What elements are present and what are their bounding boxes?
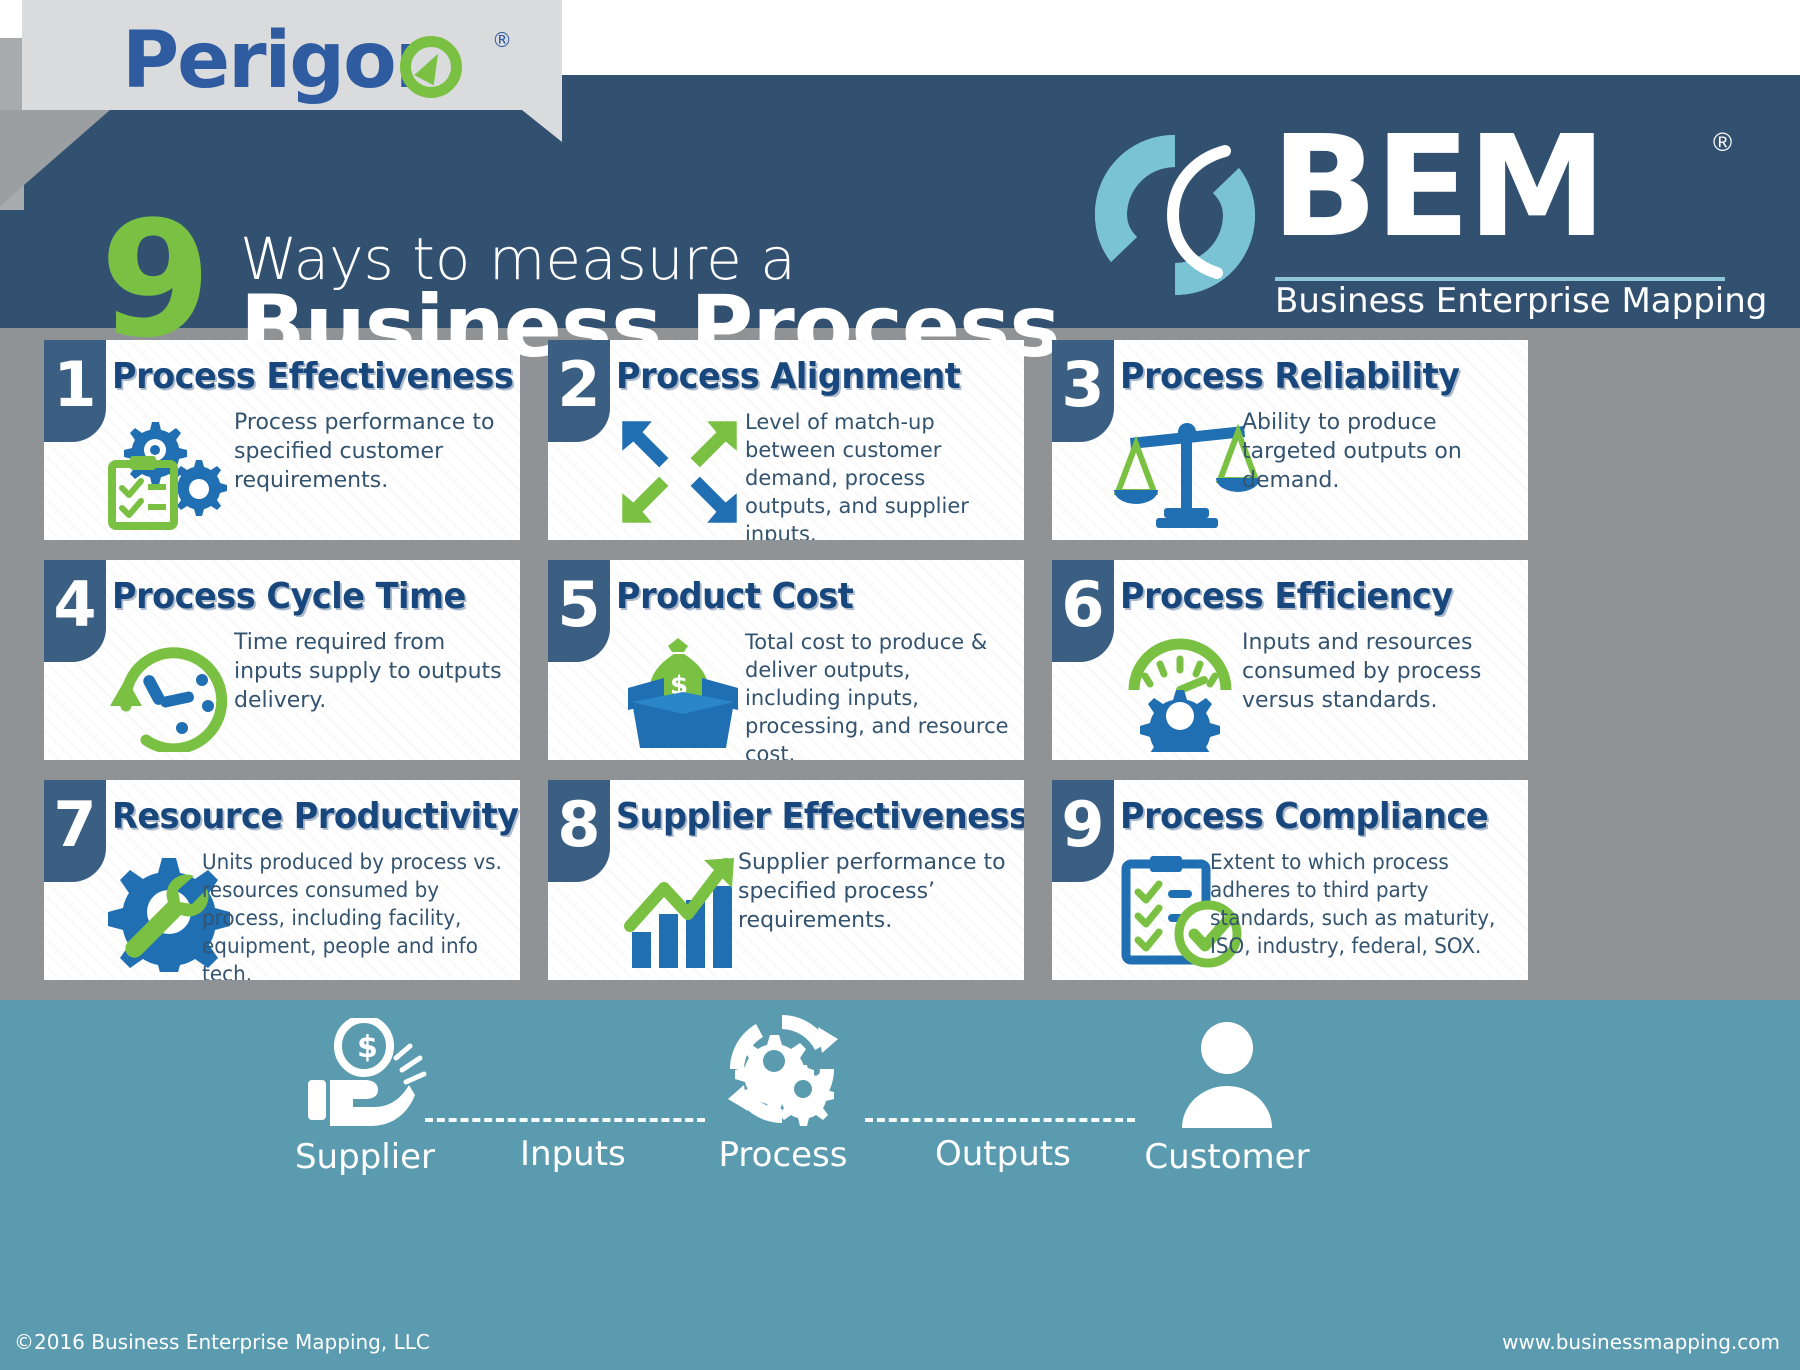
card-process-reliability[interactable]: 3 Process Reliability Ability to produce… xyxy=(1052,340,1528,540)
card-title: Supplier Effectiveness xyxy=(616,796,990,837)
card-process-effectiveness[interactable]: 1 Process Effectiveness Process performa… xyxy=(44,340,520,540)
gears-cycle-icon xyxy=(718,1006,848,1132)
card-supplier-effectiveness[interactable]: 8 Supplier Effectiveness Supplier perfor… xyxy=(548,780,1024,980)
converging-arrows-icon xyxy=(592,412,767,532)
flow-connector-inputs xyxy=(425,1118,705,1122)
card-title: Process Effectiveness xyxy=(112,356,486,397)
card-title: Process Compliance xyxy=(1120,796,1494,837)
card-title: Product Cost xyxy=(616,576,990,617)
flow-node-supplier: $ Supplier xyxy=(265,1018,465,1177)
page-header: 9 Ways to measure a Business Process BEM… xyxy=(0,75,1800,328)
card-number-badge: 3 xyxy=(1052,340,1114,442)
money-bag-box-icon: $ xyxy=(608,632,758,752)
process-flow-footer: $ Supplier Inputs xyxy=(0,1000,1800,1370)
flow-label-inputs: Inputs xyxy=(520,1134,626,1174)
perigon-wordmark: Perigon xyxy=(122,16,448,106)
perigon-registered-mark: ® xyxy=(492,28,512,52)
hand-coin-icon: $ xyxy=(300,1018,430,1128)
card-description: Supplier performance to specified proces… xyxy=(738,848,1010,935)
gauge-gear-icon xyxy=(1112,632,1262,752)
card-number-badge: 7 xyxy=(44,780,106,882)
card-title: Process Cycle Time xyxy=(112,576,486,617)
bem-tagline: Business Enterprise Mapping xyxy=(1275,281,1767,321)
flow-label-process: Process xyxy=(683,1135,883,1175)
bem-swirl-icon xyxy=(1075,115,1275,315)
bem-abbreviation: BEM xyxy=(1271,113,1604,263)
flow-node-process: Process xyxy=(683,1006,883,1175)
card-product-cost[interactable]: 5 Product Cost $ Total cost to produce &… xyxy=(548,560,1024,760)
card-title: Resource Productivity xyxy=(112,796,486,837)
card-description: Extent to which process adheres to third… xyxy=(1210,848,1514,960)
copyright-text: ©2016 Business Enterprise Mapping, LLC xyxy=(14,1330,430,1354)
card-number-badge: 1 xyxy=(44,340,106,442)
bar-chart-growth-icon xyxy=(608,852,758,972)
card-number-badge: 5 xyxy=(548,560,610,662)
card-description: Units produced by process vs. resources … xyxy=(202,848,506,980)
flow-label-outputs: Outputs xyxy=(935,1134,1071,1174)
card-number-badge: 8 xyxy=(548,780,610,882)
card-process-compliance[interactable]: 9 Process Compliance Extent to which pro… xyxy=(1052,780,1528,980)
card-number-badge: 9 xyxy=(1052,780,1114,882)
card-resource-productivity[interactable]: 7 Resource Productivity Units produced b… xyxy=(44,780,520,980)
gears-clipboard-icon xyxy=(104,412,254,532)
balance-scale-icon xyxy=(1112,412,1262,532)
measures-grid: 1 Process Effectiveness Process performa… xyxy=(44,340,1756,980)
bem-logo: BEM ® Business Enterprise Mapping xyxy=(1075,105,1765,345)
card-description: Inputs and resources consumed by process… xyxy=(1242,628,1514,715)
card-title: Process Efficiency xyxy=(1120,576,1494,617)
website-link[interactable]: www.businessmapping.com xyxy=(1502,1330,1780,1354)
card-description: Ability to produce targeted outputs on d… xyxy=(1242,408,1514,495)
card-description: Total cost to produce & deliver outputs,… xyxy=(745,628,1010,760)
flow-connector-outputs xyxy=(865,1118,1135,1122)
card-title: Process Alignment xyxy=(616,356,990,397)
card-description: Level of match-up between customer deman… xyxy=(745,408,1010,540)
card-process-alignment[interactable]: 2 Process Alignment Level of match-up be… xyxy=(548,340,1024,540)
flow-label-supplier: Supplier xyxy=(265,1137,465,1177)
flow-label-customer: Customer xyxy=(1127,1137,1327,1177)
svg-text:$: $ xyxy=(357,1030,378,1065)
card-process-cycle-time[interactable]: 4 Process Cycle Time Time required from … xyxy=(44,560,520,760)
bem-registered-mark: ® xyxy=(1713,127,1732,158)
card-description: Time required from inputs supply to outp… xyxy=(234,628,506,715)
card-process-efficiency[interactable]: 6 Process Efficiency Inputs and resource… xyxy=(1052,560,1528,760)
clock-arrow-icon xyxy=(104,632,254,752)
person-icon xyxy=(1162,1018,1292,1128)
flow-node-customer: Customer xyxy=(1127,1018,1327,1177)
card-number-badge: 4 xyxy=(44,560,106,662)
card-number-badge: 6 xyxy=(1052,560,1114,662)
card-title: Process Reliability xyxy=(1120,356,1494,397)
headline-number: 9 xyxy=(100,205,211,355)
card-description: Process performance to specified custome… xyxy=(234,408,506,495)
